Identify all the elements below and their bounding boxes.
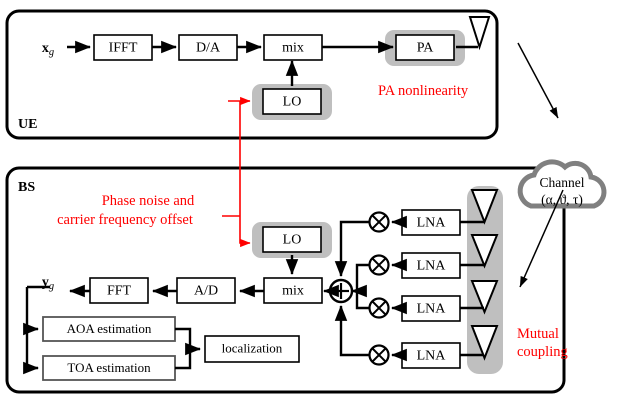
ue-to-channel-arrow	[518, 43, 558, 118]
bs-label: BS	[18, 180, 35, 195]
phase-noise-annotation-line1: Phase noise and	[102, 193, 195, 209]
ue-ifft-label: IFFT	[109, 41, 138, 56]
bs-toa-label: TOA estimation	[67, 360, 151, 375]
mutual-coupling-annotation-line1: Mutual	[517, 326, 559, 342]
pa-nonlinearity-annotation: PA nonlinearity	[378, 83, 469, 99]
bs-localization-label: localization	[222, 340, 283, 355]
bs-lna-label-3: LNA	[417, 302, 447, 317]
bs-mix-label: mix	[282, 284, 304, 299]
bs-lo-label: LO	[283, 233, 302, 248]
block-diagram-canvas: UE IFFT D/A mix PA LO xg PA nonlinearity…	[0, 0, 622, 400]
mutual-coupling-annotation-line2: coupling	[517, 344, 568, 360]
bs-fft-label: FFT	[107, 284, 132, 299]
phase-noise-annotation-line2: carrier frequency offset	[57, 212, 193, 228]
diagram-svg: UE IFFT D/A mix PA LO xg PA nonlinearity…	[0, 0, 622, 400]
ue-pa-label: PA	[417, 41, 435, 56]
bs-lna-label-1: LNA	[417, 216, 447, 231]
ue-lo-label: LO	[283, 95, 302, 110]
bs-lna-label-2: LNA	[417, 259, 447, 274]
channel-params: (α, ϑ, τ)	[541, 192, 583, 207]
bs-aoa-label: AOA estimation	[67, 321, 152, 336]
bs-ad-label: A/D	[194, 284, 218, 299]
bs-lna-label-4: LNA	[417, 349, 447, 364]
channel-label: Channel	[540, 175, 585, 190]
ue-mix-label: mix	[282, 41, 304, 56]
ue-label: UE	[18, 117, 37, 132]
ue-da-label: D/A	[196, 41, 221, 56]
